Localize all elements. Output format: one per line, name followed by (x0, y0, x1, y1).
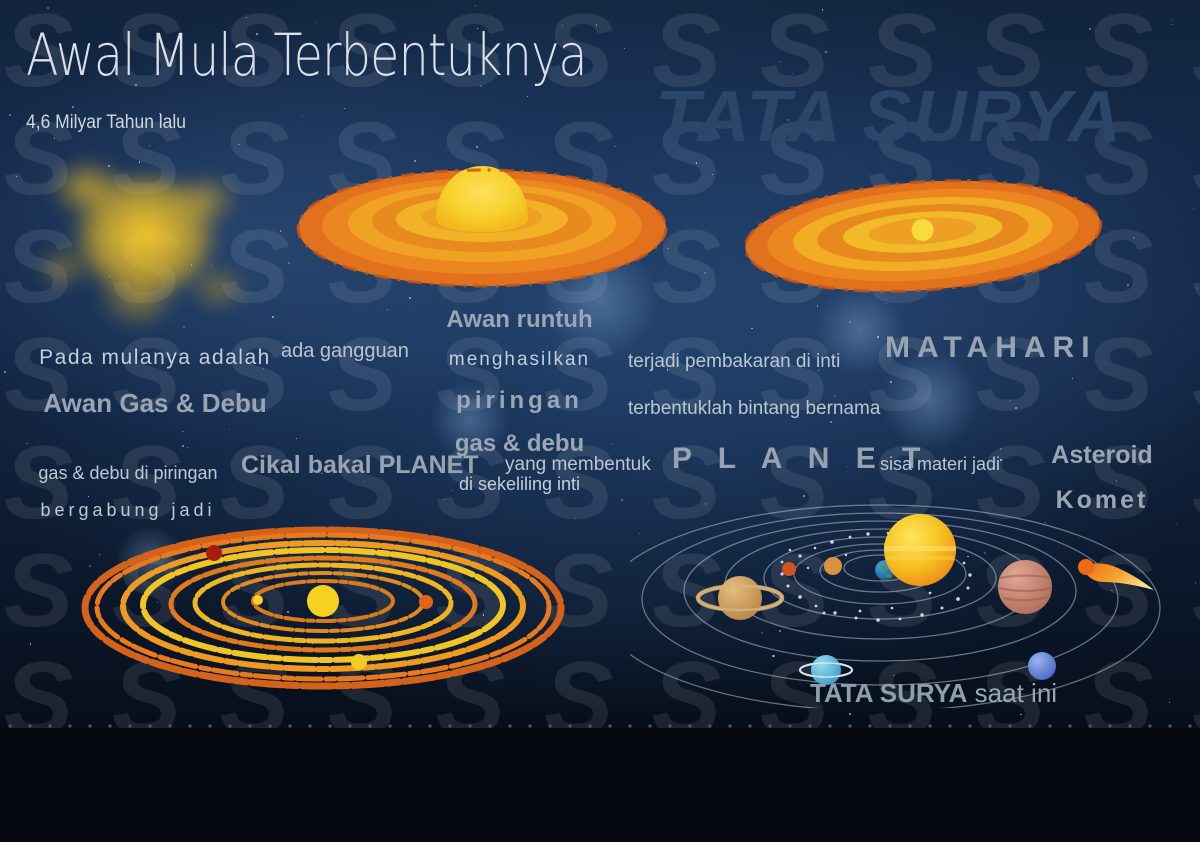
planet-saturnus (698, 576, 782, 620)
star (704, 272, 706, 274)
label-present-light: saat ini (967, 678, 1057, 708)
comet (1078, 559, 1154, 590)
infographic-canvas: TATA SURYA Awal Mula Terbentuknya 4,6 Mi… (0, 0, 1200, 842)
star (1172, 19, 1173, 20)
star (344, 108, 345, 109)
star (72, 106, 74, 108)
label-gas-cloud-line1: Pada mulanya adalah (30, 347, 280, 370)
label-leftover: sisa materi jadi (880, 455, 1000, 474)
star (779, 61, 780, 62)
planet-neptunus (1028, 652, 1056, 680)
protosun (307, 585, 339, 617)
star (1133, 237, 1134, 238)
label-gas-cloud: Pada mulanya adalah Awan Gas & Debu (30, 330, 280, 435)
protoplanet-dot-2 (206, 545, 222, 561)
star (792, 73, 793, 74)
star (16, 176, 17, 177)
label-ignition-line1: terjadi pembakaran di inti (628, 350, 880, 374)
label-asteroid: Asteroid (1022, 442, 1182, 469)
star (302, 115, 303, 116)
star (712, 174, 713, 175)
star (1009, 400, 1011, 402)
planet-venus (824, 557, 842, 575)
star (363, 481, 364, 482)
protoplanet-dot-3 (419, 595, 433, 609)
label-disk-line1: Awan runtuh (432, 307, 607, 333)
star (817, 305, 819, 307)
page-title: Awal Mula Terbentuknya (26, 24, 587, 87)
star (849, 713, 851, 715)
star (624, 48, 625, 49)
label-present-solar-system: TATA SURYA saat ini (810, 678, 1057, 709)
star (296, 438, 297, 439)
star (890, 381, 892, 383)
sun-band (884, 546, 956, 551)
star (849, 321, 851, 323)
star (387, 309, 389, 311)
label-ignition: terjadi pembakaran di inti terbentuklah … (628, 326, 880, 445)
star (696, 162, 698, 164)
protoplanet-rings-illustration (78, 512, 568, 700)
star (612, 444, 613, 445)
star (825, 51, 827, 53)
label-matahari: MATAHARI (885, 332, 1097, 364)
label-disturbance: ada gangguan (281, 341, 409, 363)
star (1105, 363, 1106, 364)
protoplanetary-disk-illustration (296, 136, 668, 296)
star (409, 297, 411, 299)
planet-jupiter (998, 560, 1052, 614)
star (1089, 28, 1090, 29)
star (596, 24, 597, 25)
young-sun-disk-illustration (742, 172, 1104, 300)
star (575, 518, 576, 519)
star (1015, 407, 1016, 408)
star (47, 7, 49, 9)
headline-tata-surya: TATA SURYA (655, 76, 1123, 158)
label-accretion-line1: gas & debu di piringan (30, 464, 226, 483)
star (621, 499, 623, 501)
label-present-bold: TATA SURYA (810, 678, 967, 708)
star (293, 701, 294, 702)
star (475, 5, 476, 6)
star (26, 443, 27, 444)
planet-mars (782, 562, 796, 576)
protoplanet-dot-4 (351, 654, 367, 670)
label-disk-line2: menghasilkan (432, 350, 607, 371)
star (280, 230, 282, 232)
star (1000, 459, 1001, 460)
star (30, 643, 32, 645)
gas-cloud-glow (36, 150, 246, 320)
star (1020, 714, 1022, 716)
label-protoplanet: Cikal bakal PLANET (241, 452, 479, 479)
star (1127, 284, 1129, 286)
star (886, 303, 887, 304)
star (4, 371, 6, 373)
star (1072, 378, 1073, 379)
label-forming: yang membentuk (505, 455, 651, 476)
star (9, 114, 11, 116)
star (228, 486, 230, 488)
footer-bar: LANGITSELATAN ASTRONOMI langitselatan in… (0, 728, 1200, 842)
star (288, 262, 290, 264)
protoplanet-dot-1 (253, 595, 263, 605)
label-ignition-line2: terbentuklah bintang bernama (628, 397, 880, 421)
star (246, 17, 247, 18)
star (527, 96, 528, 97)
star (678, 292, 679, 293)
star (1196, 287, 1198, 289)
star (1000, 448, 1002, 450)
star (1193, 208, 1194, 209)
sun-band (886, 556, 954, 560)
nebula-glow (880, 350, 980, 450)
present-solar-system-illustration (630, 498, 1200, 708)
label-disk-line3: piringan (432, 388, 607, 414)
label-gas-cloud-line2: Awan Gas & Debu (30, 389, 280, 417)
star (822, 9, 824, 11)
star (1171, 24, 1172, 25)
